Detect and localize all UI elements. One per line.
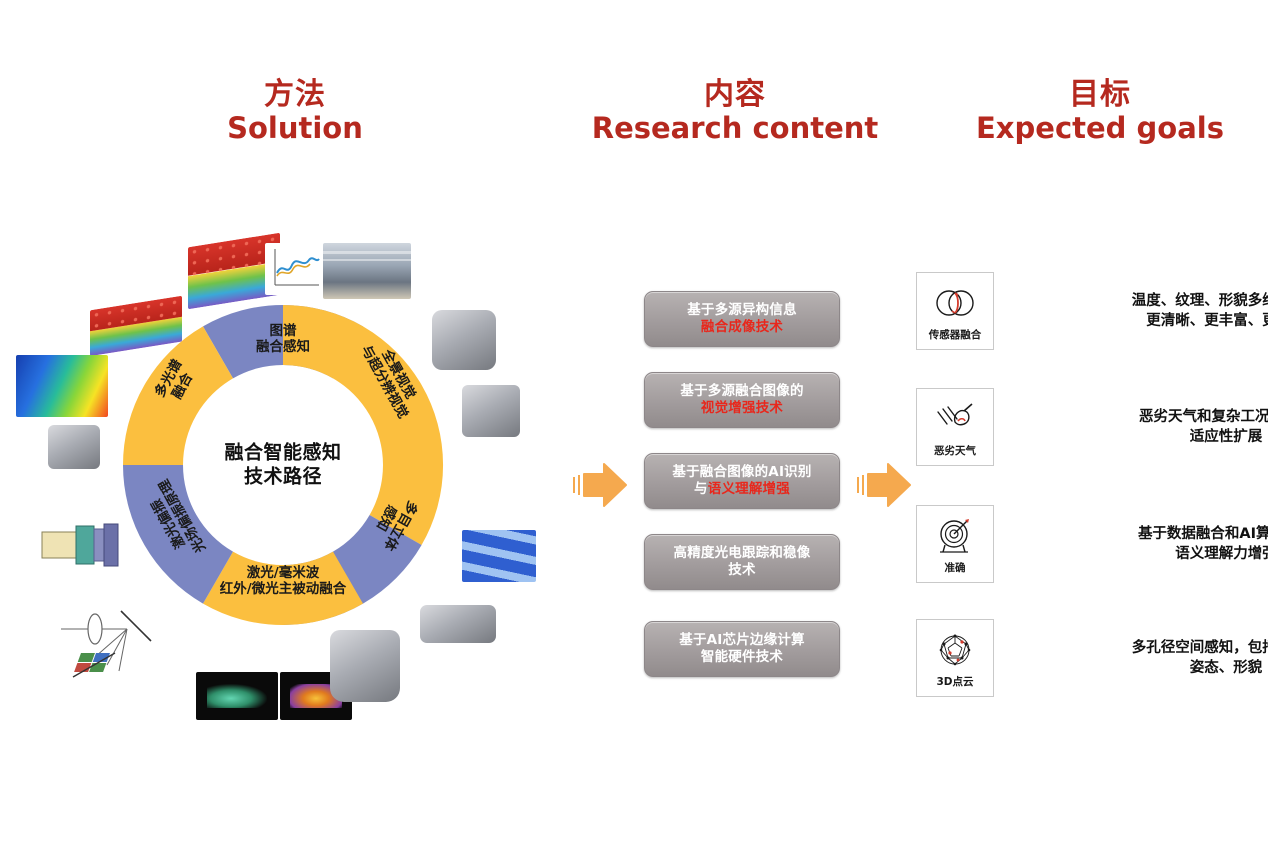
- header-goals-cn: 目标: [945, 78, 1255, 112]
- process-box-2[interactable]: 基于多源融合图像的 视觉增强技术: [644, 372, 840, 428]
- goal-text-1: 温度、纹理、形貌多维融合， 更清晰、更丰富、更可靠: [1090, 291, 1268, 331]
- wheel-label-bottom: 激光/毫米波 红外/微光主被动融合: [171, 565, 395, 598]
- goal-icon-card-1: 传感器融合: [916, 272, 994, 350]
- arrow-solution-to-content: [572, 462, 628, 512]
- process-box-1[interactable]: 基于多源异构信息 融合成像技术: [644, 291, 840, 347]
- night-vision-photo: [196, 672, 278, 720]
- column-header-content: 内容 Research content: [585, 78, 885, 144]
- goal-caption-4: 3D点云: [936, 674, 973, 689]
- goal-text-2: 恶劣天气和复杂工况条件下 适应性扩展: [1090, 407, 1268, 447]
- goal-text-4: 多孔径空间感知，包括位置、 姿态、形貌: [1090, 638, 1268, 678]
- header-solution-cn: 方法: [150, 78, 440, 112]
- goal-row-3: 准确 基于数据融合和AI算法全面 语义理解力增强: [916, 505, 1268, 583]
- wheel-center-title: 融合智能感知 技术路径: [188, 441, 378, 489]
- process-box-4[interactable]: 高精度光电跟踪和稳像 技术: [644, 534, 840, 590]
- process-box-5[interactable]: 基于AI芯片边缘计算 智能硬件技术: [644, 621, 840, 677]
- process-box-3-line1: 基于融合图像的AI识别: [672, 464, 811, 481]
- target-dart-icon: [934, 514, 976, 558]
- eo-turret-photo: [330, 630, 400, 702]
- process-box-2-line2: 视觉增强技术: [701, 400, 783, 417]
- header-content-en: Research content: [585, 112, 885, 144]
- thermal-scene-photo: [16, 355, 108, 417]
- process-box-4-line2: 技术: [728, 562, 755, 579]
- point-cloud-icon: [934, 628, 976, 672]
- solution-wheel: 图谱 融合感知 全景视觉 与超分辨视觉 多目立体 感知 激光/毫米波 红外/微光…: [118, 300, 448, 630]
- industrial-pipe-photo: [323, 243, 411, 299]
- goal-caption-1: 传感器融合: [929, 327, 982, 342]
- spectral-plot-photo: [265, 243, 323, 295]
- arrow-content-to-goals: [856, 462, 912, 512]
- goal-caption-3: 准确: [945, 560, 966, 575]
- column-header-solution: 方法 Solution: [150, 78, 440, 144]
- process-box-3-line2: 语义理解增强: [708, 481, 790, 497]
- venn-circles-icon: [932, 281, 978, 325]
- wheel-label-top: 图谱 融合感知: [208, 323, 358, 356]
- header-content-cn: 内容: [585, 78, 885, 112]
- camera-module-photo: [48, 425, 100, 469]
- goal-icon-card-2: 恶劣天气: [916, 388, 994, 466]
- header-solution-en: Solution: [150, 112, 440, 144]
- process-box-3[interactable]: 基于融合图像的AI识别 与语义理解增强: [644, 453, 840, 509]
- blue-stereo-pattern-photo: [462, 530, 536, 582]
- goal-caption-2: 恶劣天气: [934, 443, 976, 458]
- process-box-5-line2: 智能硬件技术: [701, 649, 783, 666]
- goal-row-2: 恶劣天气 恶劣天气和复杂工况条件下 适应性扩展: [916, 388, 1268, 466]
- column-header-goals: 目标 Expected goals: [945, 78, 1255, 144]
- goal-icon-card-4: 3D点云: [916, 619, 994, 697]
- process-box-4-line1: 高精度光电跟踪和稳像: [674, 545, 811, 562]
- optical-instrument-photo: [462, 385, 520, 437]
- goal-icon-card-3: 准确: [916, 505, 994, 583]
- process-box-1-line1: 基于多源异构信息: [687, 302, 797, 319]
- process-box-3-line2-wrap: 与语义理解增强: [694, 481, 790, 498]
- diagram-canvas: 方法 Solution 内容 Research content 目标 Expec…: [0, 0, 1268, 866]
- goal-row-4: 3D点云 多孔径空间感知，包括位置、 姿态、形貌: [916, 619, 1268, 697]
- goal-text-3: 基于数据融合和AI算法全面 语义理解力增强: [1090, 524, 1268, 564]
- header-goals-en: Expected goals: [945, 112, 1255, 144]
- process-box-3-line2-lead: 与: [694, 481, 708, 497]
- process-box-2-line1: 基于多源融合图像的: [680, 383, 803, 400]
- process-box-1-line2: 融合成像技术: [701, 319, 783, 336]
- bad-weather-icon: [933, 397, 977, 441]
- goal-row-1: 传感器融合 温度、纹理、形貌多维融合， 更清晰、更丰富、更可靠: [916, 272, 1268, 350]
- process-box-5-line1: 基于AI芯片边缘计算: [679, 632, 804, 649]
